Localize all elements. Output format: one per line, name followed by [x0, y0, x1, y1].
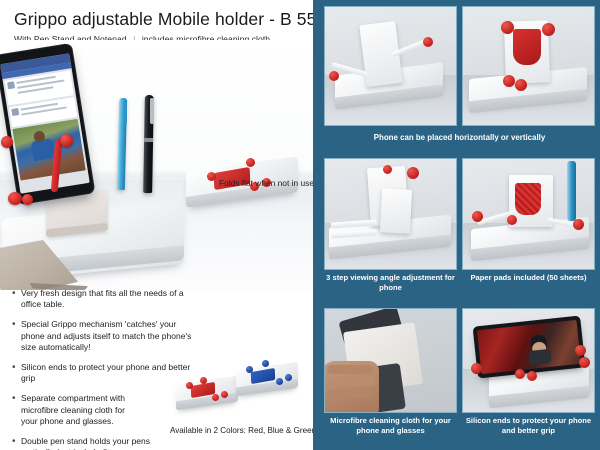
silicon-grip-icon [472, 211, 483, 222]
gallery-cell: Paper pads included (50 sheets) [462, 158, 595, 293]
photo-gallery: Phone can be placed horizontally or vert… [319, 0, 600, 450]
silicon-grip-icon [573, 219, 584, 230]
list-item: • Double pen stand holds your pens verti… [12, 436, 202, 450]
list-item: • Very fresh design that fits all the ne… [12, 288, 202, 311]
blue-pen-clip [124, 102, 127, 124]
caption-text: Paper pads included (50 sheets) [462, 270, 595, 293]
silicon-grip-icon [1, 136, 13, 148]
variants-caption: Available in 2 Colors: Red, Blue & Green [170, 426, 310, 435]
hero-product-photo [0, 40, 313, 290]
finger [327, 365, 373, 374]
silicon-grip-icon [207, 172, 216, 181]
photo-phone-landscape-video[interactable] [462, 308, 595, 413]
silicon-grip-icon [276, 378, 283, 385]
red-grip-pad [513, 29, 541, 65]
feed-photo-person [31, 138, 56, 161]
feature-text: Double pen stand holds your pens vertica… [21, 436, 153, 450]
advertisement-page: Grippo adjustable Mobile holder - B 55 W… [0, 0, 600, 450]
red-grip-pad [515, 183, 541, 215]
bullet-icon: • [12, 393, 21, 427]
black-pen-clip [150, 98, 154, 124]
photo-paper-pads[interactable] [462, 158, 595, 270]
silicon-grip-icon [8, 192, 22, 205]
gallery-row-1-caption: Phone can be placed horizontally or vert… [324, 133, 595, 143]
silicon-grip-icon [246, 366, 253, 373]
feature-text: Separate compartment with microfibre cle… [21, 393, 133, 427]
gallery-cell [462, 6, 595, 126]
black-pen-ring [144, 138, 153, 142]
photo-viewing-angle-steps[interactable] [324, 158, 457, 270]
folds-flat-caption: Folds flat when not in use [219, 178, 313, 188]
silicon-grip-icon [515, 369, 525, 379]
silicon-grip-icon [200, 377, 207, 384]
silicon-grip-icon [212, 394, 219, 401]
gallery-cell [324, 6, 457, 126]
video-screen [477, 320, 581, 374]
caption-text: Silicon ends to protect your phone and b… [462, 413, 595, 436]
silicon-grip-icon [515, 79, 527, 91]
finger [327, 389, 371, 398]
avatar [7, 81, 15, 89]
silicon-grip-icon [221, 391, 228, 398]
silicon-grip-icon [501, 21, 514, 34]
silicon-grip-icon [383, 165, 392, 174]
silicon-grip-icon [503, 75, 515, 87]
bullet-icon: • [12, 436, 21, 450]
feature-text: Very fresh design that fits all the need… [21, 288, 202, 311]
silicon-grip-icon [575, 345, 586, 356]
caption-text: Microfibre cleaning cloth for your phone… [324, 413, 457, 436]
gallery-cell: Silicon ends to protect your phone and b… [462, 308, 595, 436]
silicon-grip-icon [471, 363, 482, 374]
gallery-cell: 3 step viewing angle adjustment for phon… [324, 158, 457, 293]
avatar [11, 108, 19, 116]
gallery-row-2: 3 step viewing angle adjustment for phon… [324, 158, 595, 293]
silicon-grip-icon [22, 194, 33, 205]
photo-cleaning-cloth-hand[interactable] [324, 308, 457, 413]
photo-stand-vertical-red-pad[interactable] [462, 6, 595, 126]
feature-text: Special Grippo mechanism 'catches' your … [21, 319, 202, 353]
left-panel: Grippo adjustable Mobile holder - B 55 W… [0, 0, 313, 450]
video-character-body [528, 349, 551, 365]
variant-blue [236, 358, 298, 398]
silicon-grip-icon [262, 360, 269, 367]
photo-stand-folded-open[interactable] [324, 6, 457, 126]
caption-text: 3 step viewing angle adjustment for phon… [324, 270, 457, 293]
silicon-grip-icon [542, 23, 555, 36]
list-item: • Special Grippo mechanism 'catches' you… [12, 319, 202, 353]
silicon-grip-icon [423, 37, 433, 47]
caption-text: Phone can be placed horizontally or vert… [324, 133, 595, 143]
silicon-grip-icon [527, 371, 537, 381]
silicon-grip-icon [329, 71, 339, 81]
silicon-grip-icon [507, 215, 517, 225]
color-variants-photo [176, 358, 308, 420]
blue-pen [567, 161, 576, 221]
silicon-grip-icon [407, 167, 419, 179]
bullet-icon: • [12, 319, 21, 353]
list-item: • Separate compartment with microfibre c… [12, 393, 202, 427]
silicon-grip-icon [579, 357, 590, 368]
gallery-cell: Microfibre cleaning cloth for your phone… [324, 308, 457, 436]
gallery-row-1 [324, 6, 595, 126]
silicon-grip-icon [285, 374, 292, 381]
page-title: Grippo adjustable Mobile holder - B 55 [14, 10, 310, 29]
feature-text: Silicon ends to protect your phone and b… [21, 362, 202, 385]
support-leg [380, 188, 412, 234]
finger [327, 377, 375, 386]
bullet-icon: • [12, 288, 21, 311]
bullet-icon: • [12, 362, 21, 385]
variant-red [176, 372, 238, 412]
list-item: • Silicon ends to protect your phone and… [12, 362, 202, 385]
phone-screen [0, 53, 90, 193]
silicon-grip-icon [246, 158, 255, 167]
silicon-grip-icon [186, 382, 193, 389]
feed-photo [12, 119, 85, 181]
silicon-grip-icon [60, 134, 73, 147]
gallery-row-3: Microfibre cleaning cloth for your phone… [324, 308, 595, 436]
